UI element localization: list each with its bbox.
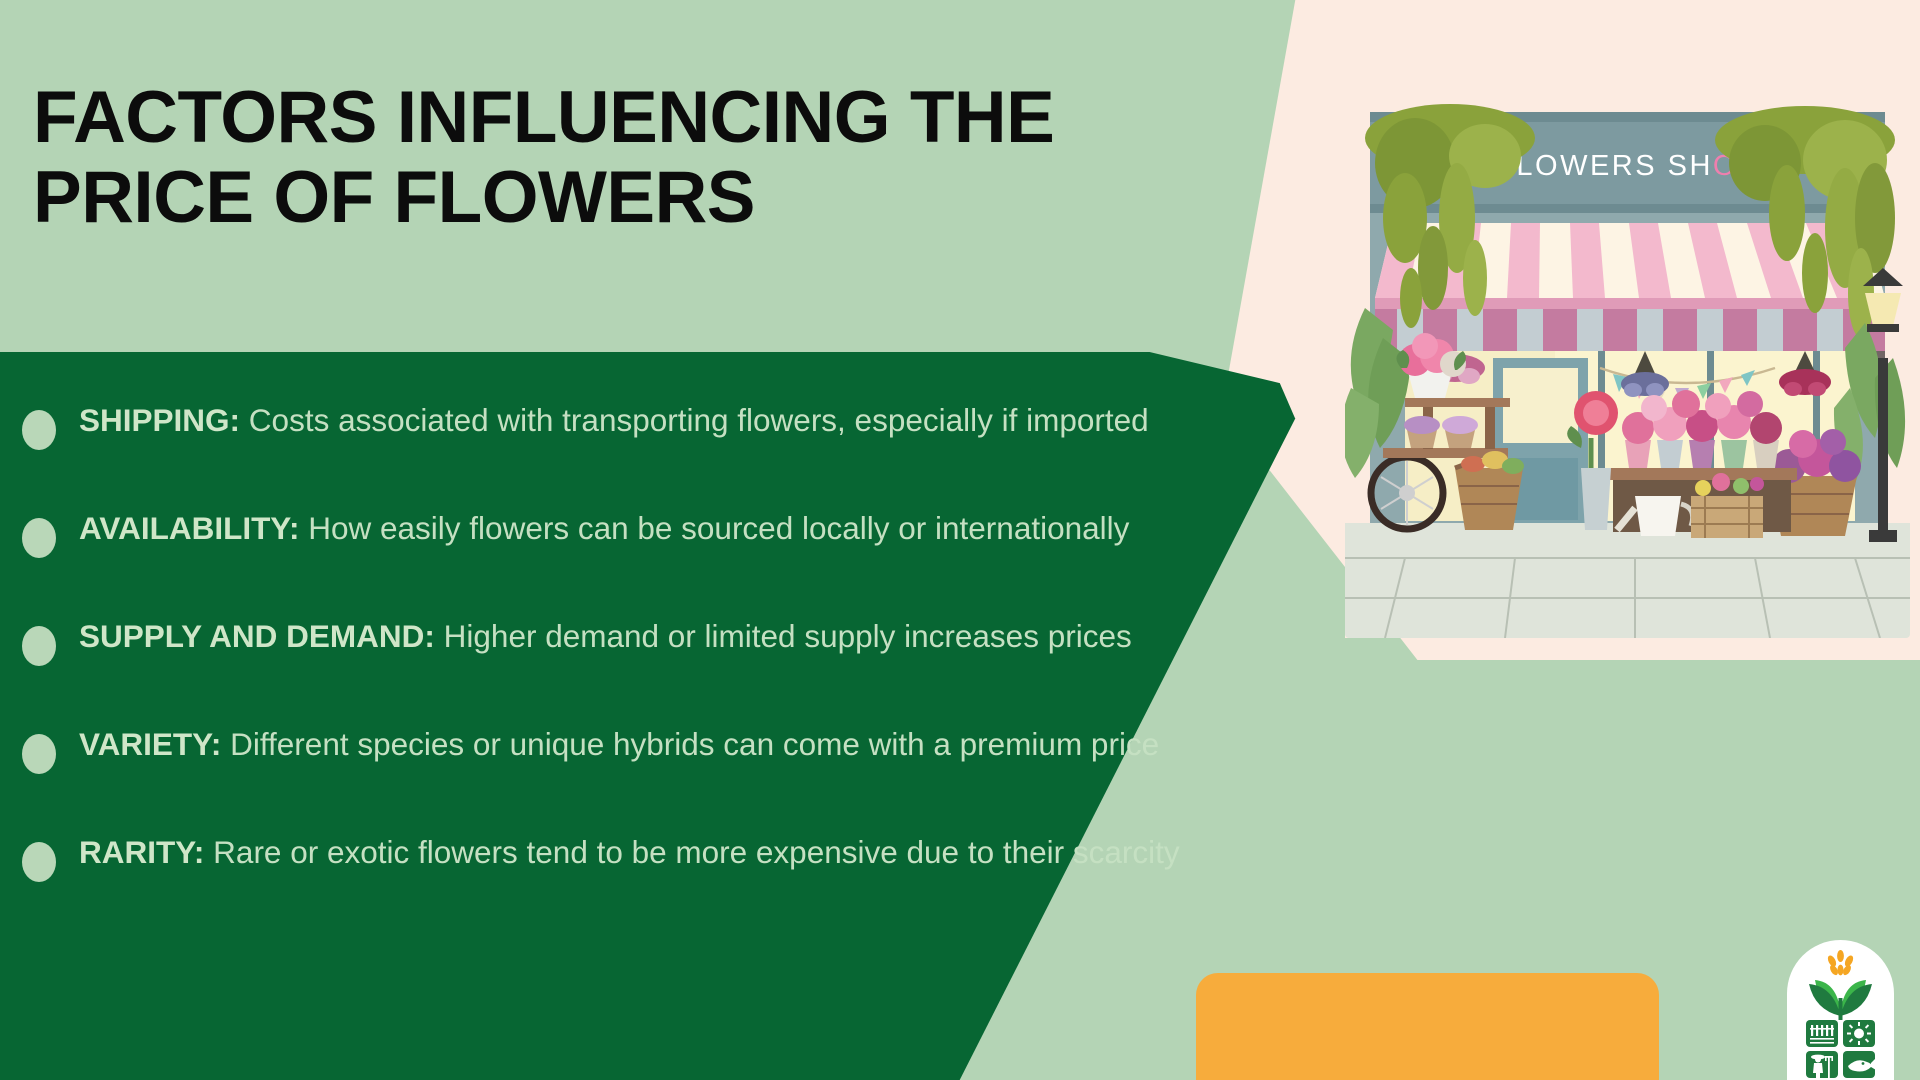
list-item-label: SUPPLY AND DEMAND:	[79, 618, 435, 654]
list-item-description: Higher demand or limited supply increase…	[444, 618, 1132, 654]
background-orange-block	[1196, 973, 1659, 1080]
grain-icon	[1826, 950, 1855, 976]
bullet-dot-icon	[22, 626, 56, 666]
flower-shop-illustration: FLOWERS SHOP	[1345, 68, 1910, 638]
list-item-description: Costs associated with transporting flowe…	[249, 402, 1149, 438]
title-line-2: PRICE OF FLOWERS	[33, 158, 1153, 238]
agriculture-logo	[1787, 940, 1894, 1080]
wooden-crate	[1691, 473, 1764, 538]
shop-sign-text: FLOWERS SHOP	[1496, 150, 1760, 182]
infographic-canvas: FLOWERS SHOP	[0, 0, 1920, 1080]
page-title: FACTORS INFLUENCING THE PRICE OF FLOWERS	[33, 78, 1153, 237]
list-item: RARITY: Rare or exotic flowers tend to b…	[22, 830, 1202, 882]
list-item-description: Different species or unique hybrids can …	[230, 726, 1159, 762]
list-item-text: SUPPLY AND DEMAND: Higher demand or limi…	[79, 614, 1132, 660]
list-item-description: How easily flowers can be sourced locall…	[308, 510, 1129, 546]
basket-left	[1455, 451, 1524, 530]
list-item-label: RARITY:	[79, 834, 204, 870]
list-item-label: VARIETY:	[79, 726, 221, 762]
list-item-label: AVAILABILITY:	[79, 510, 299, 546]
list-item-text: RARITY: Rare or exotic flowers tend to b…	[79, 830, 1180, 876]
list-item-text: AVAILABILITY: How easily flowers can be …	[79, 506, 1129, 552]
list-item: VARIETY: Different species or unique hyb…	[22, 722, 1202, 774]
list-item-text: VARIETY: Different species or unique hyb…	[79, 722, 1159, 768]
title-line-1: FACTORS INFLUENCING THE	[33, 77, 1054, 158]
list-item: AVAILABILITY: How easily flowers can be …	[22, 506, 1202, 558]
sprout-icon	[1809, 980, 1872, 1020]
bullet-dot-icon	[22, 842, 56, 882]
list-item-text: SHIPPING: Costs associated with transpor…	[79, 398, 1149, 444]
list-item: SHIPPING: Costs associated with transpor…	[22, 398, 1202, 450]
list-item-description: Rare or exotic flowers tend to be more e…	[213, 834, 1179, 870]
bullet-dot-icon	[22, 734, 56, 774]
bullet-dot-icon	[22, 518, 56, 558]
list-item: SUPPLY AND DEMAND: Higher demand or limi…	[22, 614, 1202, 666]
list-item-label: SHIPPING:	[79, 402, 240, 438]
bullet-dot-icon	[22, 410, 56, 450]
icon-tiles	[1806, 1020, 1876, 1078]
factors-list: SHIPPING: Costs associated with transpor…	[22, 398, 1202, 882]
